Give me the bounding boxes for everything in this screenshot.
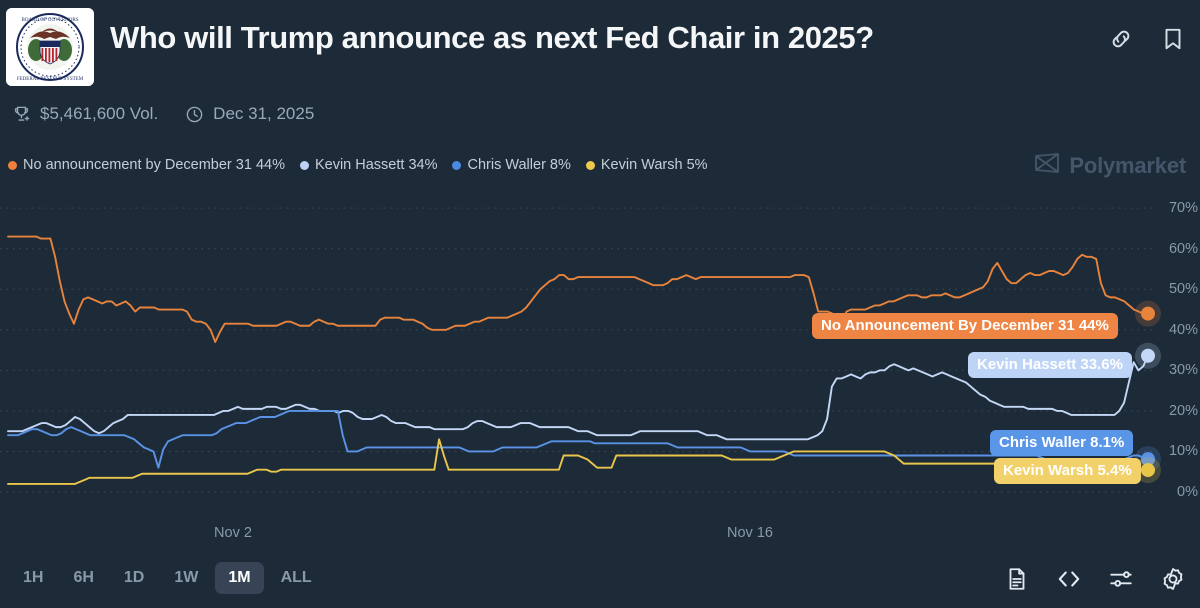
svg-text:BOARD OF GOVERNORS: BOARD OF GOVERNORS	[22, 18, 79, 23]
endpoint-dot	[1141, 349, 1155, 363]
y-axis-tick: 50%	[1169, 281, 1198, 297]
svg-text:FEDERAL RESERVE SYSTEM: FEDERAL RESERVE SYSTEM	[17, 77, 84, 82]
legend-color-dot	[300, 161, 309, 170]
y-axis-tick: 70%	[1169, 200, 1198, 216]
legend-item[interactable]: Kevin Hassett 34%	[300, 157, 438, 173]
range-button-1d[interactable]: 1D	[111, 562, 157, 594]
polymarket-logo-icon	[1034, 152, 1060, 180]
series-line	[8, 411, 1148, 468]
price-chip: Chris Waller 8.1%	[990, 430, 1133, 456]
legend-item[interactable]: No announcement by December 31 44%	[8, 157, 285, 173]
endpoint-dot	[1141, 463, 1155, 477]
document-icon[interactable]	[1004, 566, 1030, 592]
y-axis-tick: 60%	[1169, 241, 1198, 257]
range-button-1h[interactable]: 1H	[10, 562, 56, 594]
code-icon[interactable]	[1056, 566, 1082, 592]
market-volume: $5,461,600 Vol.	[40, 104, 158, 124]
endpoint-dot	[1141, 307, 1155, 321]
gear-icon[interactable]	[1160, 566, 1186, 592]
page-header: BOARD OF GOVERNORS FEDERAL RESERVE SYSTE…	[0, 0, 1200, 96]
page-title: Who will Trump announce as next Fed Chai…	[110, 20, 874, 56]
price-chip: Kevin Hassett 33.6%	[968, 352, 1132, 378]
range-button-1w[interactable]: 1W	[161, 562, 211, 594]
series-line	[8, 439, 1148, 484]
legend-label: Chris Waller 8%	[467, 157, 570, 173]
bookmark-icon[interactable]	[1160, 26, 1186, 52]
clock-icon	[185, 105, 204, 124]
legend-label: Kevin Warsh 5%	[601, 157, 708, 173]
chart-legend: No announcement by December 31 44%Kevin …	[8, 157, 708, 173]
legend-item[interactable]: Kevin Warsh 5%	[586, 157, 708, 173]
legend-color-dot	[586, 161, 595, 170]
trophy-plus-icon	[12, 105, 31, 124]
legend-label: Kevin Hassett 34%	[315, 157, 438, 173]
polymarket-watermark: Polymarket	[1034, 152, 1186, 180]
x-axis-tick: Nov 16	[727, 525, 773, 541]
time-range-selector[interactable]: 1H6H1D1W1MALL	[10, 562, 325, 594]
legend-color-dot	[452, 161, 461, 170]
watermark-text: Polymarket	[1069, 153, 1186, 179]
y-axis: 70%60%50%40%30%20%10%0%	[1160, 196, 1200, 516]
chart-tools	[1004, 566, 1186, 592]
range-button-1m[interactable]: 1M	[215, 562, 263, 594]
x-axis: Nov 2Nov 16	[0, 525, 1200, 549]
y-axis-tick: 0%	[1177, 484, 1198, 500]
y-axis-tick: 20%	[1169, 403, 1198, 419]
legend-item[interactable]: Chris Waller 8%	[452, 157, 570, 173]
market-meta: $5,461,600 Vol. Dec 31, 2025	[12, 104, 314, 124]
x-axis-tick: Nov 2	[214, 525, 252, 541]
sliders-icon[interactable]	[1108, 566, 1134, 592]
legend-label: No announcement by December 31 44%	[23, 157, 285, 173]
market-logo: BOARD OF GOVERNORS FEDERAL RESERVE SYSTE…	[6, 8, 94, 86]
price-chip: No Announcement By December 31 44%	[812, 313, 1118, 339]
price-chip: Kevin Warsh 5.4%	[994, 458, 1141, 484]
y-axis-tick: 10%	[1169, 443, 1198, 459]
y-axis-tick: 30%	[1169, 362, 1198, 378]
range-button-all[interactable]: ALL	[268, 562, 325, 594]
chart-footer: 1H6H1D1W1MALL	[0, 560, 1200, 608]
market-end-date: Dec 31, 2025	[213, 104, 314, 124]
link-icon[interactable]	[1108, 26, 1134, 52]
header-actions	[1108, 26, 1186, 52]
legend-color-dot	[8, 161, 17, 170]
polymarket-chart-page: BOARD OF GOVERNORS FEDERAL RESERVE SYSTE…	[0, 0, 1200, 608]
y-axis-tick: 40%	[1169, 322, 1198, 338]
range-button-6h[interactable]: 6H	[60, 562, 106, 594]
